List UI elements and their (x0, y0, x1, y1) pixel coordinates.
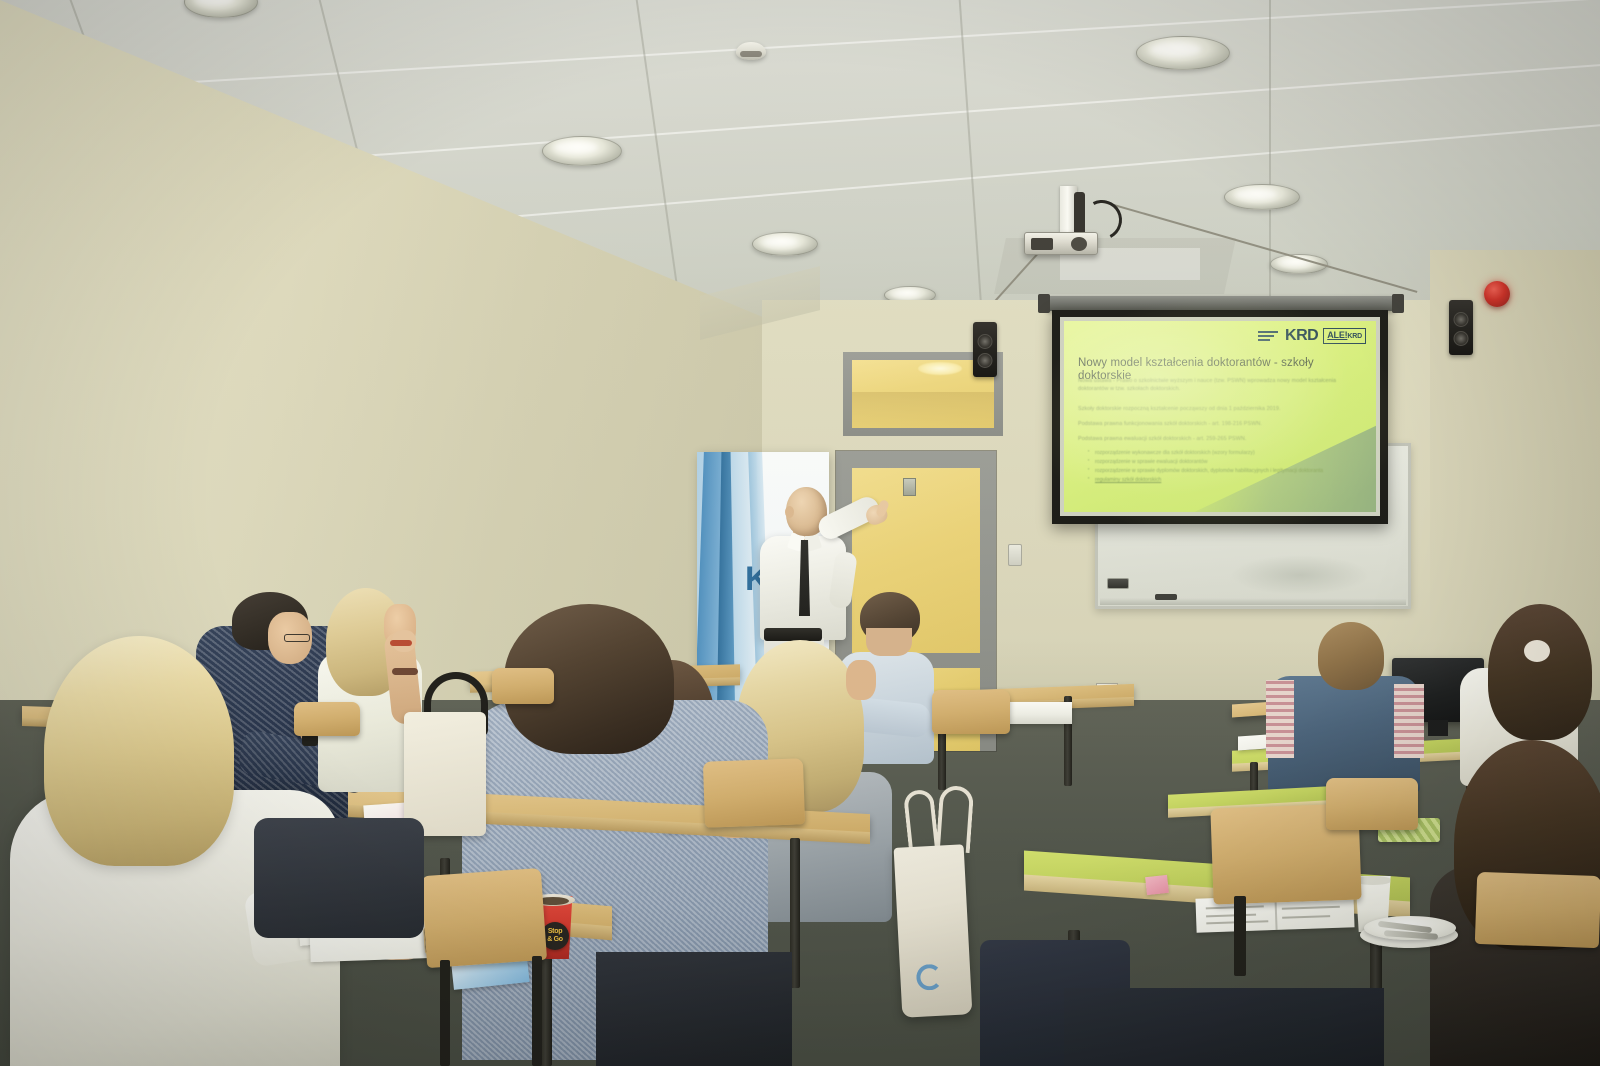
glasses-icon (284, 634, 310, 642)
attendee-neck (866, 628, 912, 656)
door-sign (903, 478, 916, 496)
fire-alarm-beacon-icon (1484, 281, 1510, 307)
presenter-belt (764, 628, 822, 641)
chair (703, 758, 805, 827)
ceiling-light (1136, 36, 1230, 70)
attendee-face (846, 660, 876, 700)
slide-bullet: rozporządzenie wykonawcze dla szkół dokt… (1088, 449, 1338, 458)
chair (1326, 778, 1418, 830)
chair-leg (1234, 896, 1246, 976)
projection-screen: KRD ALE!KRD Nowy model kształcenia dokto… (1060, 317, 1380, 516)
presenter-ear (785, 506, 794, 518)
presentation-slide: KRD ALE!KRD Nowy model kształcenia dokto… (1064, 321, 1376, 512)
chair-seat-dark (254, 818, 424, 938)
attendee-hair (44, 636, 234, 866)
cup-brand-line1: Stop (548, 928, 562, 936)
ceiling-light (1224, 184, 1300, 210)
krd-logo-text: KRD (1285, 327, 1318, 345)
ale-brand: KRD (1347, 333, 1362, 340)
bag-under-desk (1064, 988, 1384, 1066)
whiteboard-eraser (1107, 578, 1129, 589)
slide-bullet: regulaminy szkół doktorskich (1088, 476, 1338, 485)
plaid-sleeve (1266, 680, 1294, 758)
slide-bullet: rozporządzenie w sprawie ewaluacji dokto… (1088, 458, 1338, 467)
slide-logo: KRD ALE!KRD (1258, 327, 1366, 345)
whiteboard-smudge (1230, 555, 1370, 595)
whiteboard-marker (1155, 594, 1177, 600)
ceiling-light (752, 232, 818, 256)
corridor-light (918, 362, 962, 375)
chair (1475, 872, 1600, 948)
smoke-detector-icon (736, 42, 766, 60)
ale-prefix: ALE! (1327, 330, 1347, 340)
whiteboard-marker-tray (1100, 598, 1406, 605)
ceiling-light (542, 136, 622, 166)
logo-bars-icon (1258, 331, 1278, 341)
chair (421, 868, 547, 968)
slide-paragraph: Podstawa prawna ewaluacji szkół doktorsk… (1078, 435, 1348, 443)
chair (294, 702, 360, 736)
wall-switch[interactable] (1008, 544, 1022, 566)
slide-bullet: rozporządzenie w sprawie dyplomów doktor… (1088, 467, 1338, 476)
wall-speaker-right (1449, 300, 1473, 355)
person-lap-dark (596, 952, 792, 1066)
projection-screen-roller (1046, 296, 1396, 311)
corridor-shadow (852, 392, 994, 428)
slide-paragraph: Nowa ustawa - Prawo o szkolnictwie wyższ… (1078, 377, 1348, 394)
bracelet (392, 668, 418, 675)
ale-krd-badge: ALE!KRD (1323, 328, 1366, 344)
jacket-on-chair (404, 712, 486, 836)
lipstick-color (390, 640, 412, 646)
classroom-photo-scene: KRD ALE!KRD Nowy model kształcenia dokto… (0, 0, 1600, 1066)
plaid-sleeve (1394, 684, 1424, 758)
cup-brand-line2: & Go (547, 936, 563, 944)
tote-handle (936, 785, 975, 853)
ceiling-projector-icon (1024, 232, 1098, 255)
attendee-hair (1318, 622, 1384, 690)
slide-paragraph: Podstawa prawna funkcjonowania szkół dok… (1078, 420, 1348, 428)
chair-leg (532, 956, 542, 1066)
chair-leg (440, 960, 450, 1066)
sticky-note (1145, 875, 1169, 895)
slide-paragraph: Szkoły doktorskie rozpoczną kształcenie … (1078, 405, 1348, 413)
monitor-stand (1428, 720, 1448, 736)
chair (492, 668, 554, 704)
attendee-hair (1488, 604, 1592, 740)
hair-tie (1524, 640, 1550, 662)
canvas-tote-bag (894, 844, 973, 1017)
slide-bullet-list: rozporządzenie wykonawcze dla szkół dokt… (1088, 449, 1338, 485)
chair (932, 690, 1010, 734)
wall-speaker-left (973, 322, 997, 377)
